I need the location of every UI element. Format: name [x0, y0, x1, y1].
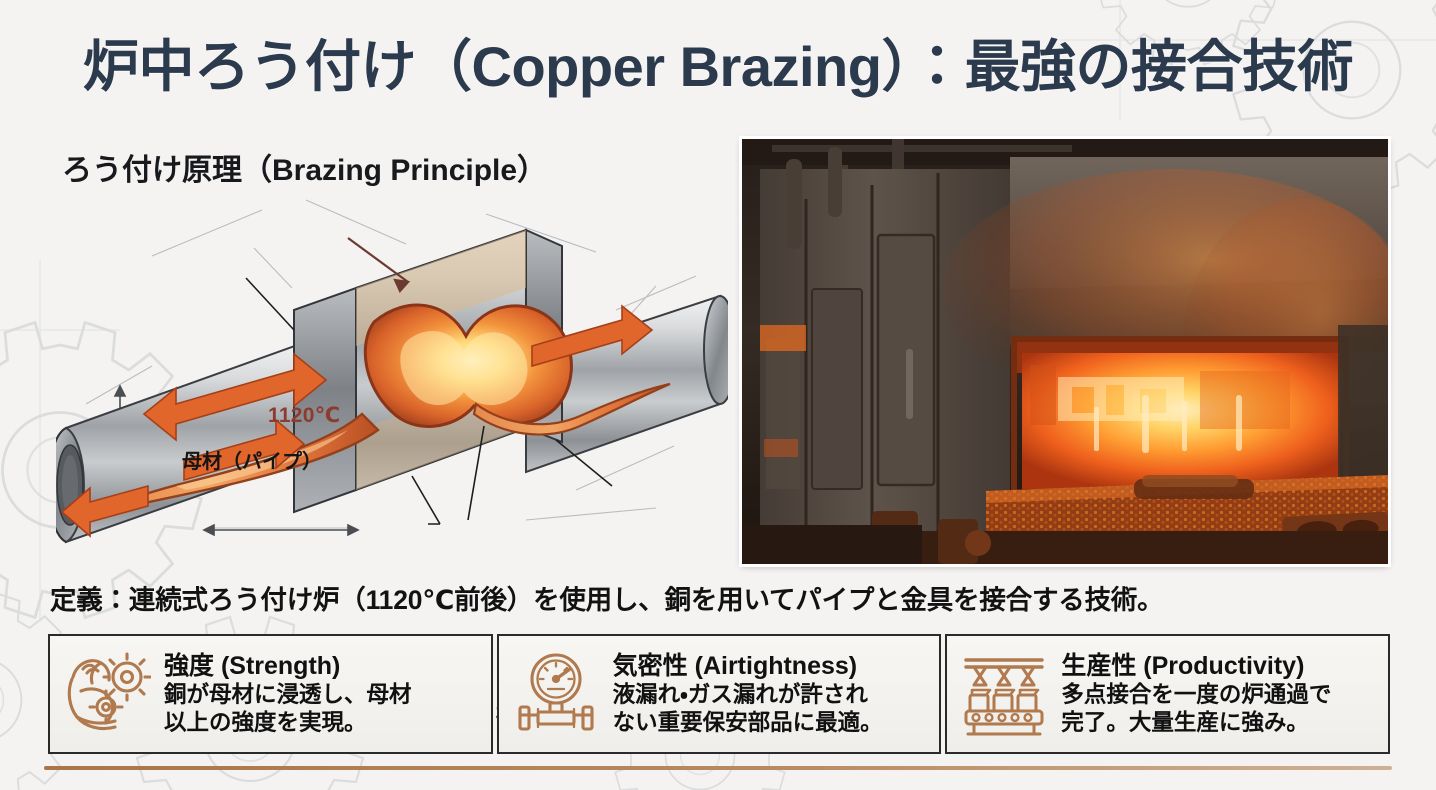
brazing-principle-diagram: 1120℃ 母材（パイプ） 母材（金具） 銅ろう材（Copper Filler）: [56, 190, 728, 560]
card-title: 強度 (Strength): [164, 652, 483, 680]
benefit-cards: 強度 (Strength) 銅が母材に浸透し、母材 以上の強度を実現。: [48, 634, 1390, 754]
furnace-photo: [742, 139, 1388, 564]
card-body-line: ない重要保安部品に最適。: [613, 709, 932, 736]
diagram-heading: ろう付け原理（Brazing Principle）: [62, 145, 547, 189]
strength-bicep-gear-icon: [60, 644, 154, 744]
slide-root: 炉中ろう付け（Copper Brazing）：最強の接合技術 ろう付け原理（Br…: [0, 0, 1436, 790]
label-temperature: 1120℃: [268, 405, 341, 426]
conveyor-line-icon: [957, 644, 1051, 744]
card-body-line: 液漏れ・ガス漏れが許され: [613, 681, 932, 708]
benefit-card-airtightness[interactable]: 気密性 (Airtightness) 液漏れ・ガス漏れが許され ない重要保安部品…: [497, 634, 942, 754]
bottom-accent-rule: [44, 766, 1392, 770]
benefit-card-productivity[interactable]: 生産性 (Productivity) 多点接合を一度の炉通過で 完了。大量生産に…: [945, 634, 1390, 754]
benefit-card-strength[interactable]: 強度 (Strength) 銅が母材に浸透し、母材 以上の強度を実現。: [48, 634, 493, 754]
pressure-gauge-icon: [509, 644, 603, 744]
card-body-line: 多点接合を一度の炉通過で: [1061, 681, 1380, 708]
card-body-line: 以上の強度を実現。: [164, 709, 483, 736]
card-title: 生産性 (Productivity): [1061, 652, 1380, 680]
page-title: 炉中ろう付け（Copper Brazing）：最強の接合技術: [0, 38, 1436, 97]
label-base-pipe: 母材（パイプ）: [182, 452, 322, 472]
card-title: 気密性 (Airtightness): [613, 652, 932, 680]
card-body-line: 完了。大量生産に強み。: [1061, 709, 1380, 736]
definition-text: 定義：連続式ろう付け炉（1120℃前後）を使用し、銅を用いてパイプと金具を接合す…: [50, 578, 1163, 617]
card-body-line: 銅が母材に浸透し、母材: [164, 681, 483, 708]
